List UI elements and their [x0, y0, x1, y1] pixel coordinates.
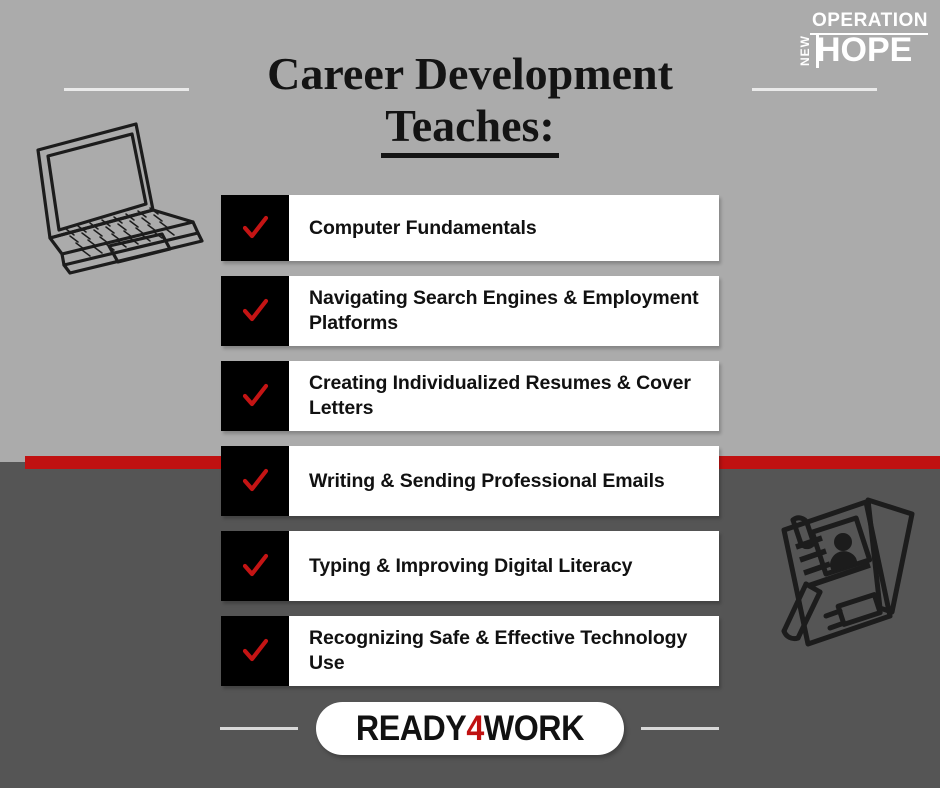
resume-document-icon [762, 492, 934, 657]
check-icon [240, 296, 270, 326]
check-icon [240, 636, 270, 666]
list-item[interactable]: Recognizing Safe & Effective Technology … [221, 616, 719, 686]
list-item[interactable]: Navigating Search Engines & Employment P… [221, 276, 719, 346]
logo-operation-text: OPERATION [812, 10, 928, 31]
list-item[interactable]: Computer Fundamentals [221, 195, 719, 261]
list-item[interactable]: Writing & Sending Professional Emails [221, 446, 719, 516]
decorative-rule-right-bottom [641, 727, 719, 730]
list-item-label: Computer Fundamentals [289, 195, 719, 261]
checkbox[interactable] [221, 276, 289, 346]
checkbox[interactable] [221, 531, 289, 601]
checkbox[interactable] [221, 616, 289, 686]
check-icon [240, 213, 270, 243]
list-item[interactable]: Creating Individualized Resumes & Cover … [221, 361, 719, 431]
checklist: Computer Fundamentals Navigating Search … [221, 195, 719, 701]
list-item-label: Typing & Improving Digital Literacy [289, 531, 719, 601]
check-icon [240, 551, 270, 581]
title-line-1: Career Development [0, 48, 940, 100]
checkbox[interactable] [221, 361, 289, 431]
decorative-rule-left-bottom [220, 727, 298, 730]
title-line-2: Teaches: [381, 100, 559, 158]
list-item-label: Navigating Search Engines & Employment P… [289, 276, 719, 346]
ready4work-text: READY4WORK [356, 709, 584, 749]
list-item-label: Writing & Sending Professional Emails [289, 446, 719, 516]
list-item-label: Recognizing Safe & Effective Technology … [289, 616, 719, 686]
check-icon [240, 466, 270, 496]
checkbox[interactable] [221, 195, 289, 261]
checkbox[interactable] [221, 446, 289, 516]
poster-canvas: OPERATION NEW HOPE Career Development Te… [0, 0, 940, 788]
list-item[interactable]: Typing & Improving Digital Literacy [221, 531, 719, 601]
brand-number: 4 [466, 709, 483, 748]
brand-part-2: WORK [484, 709, 584, 748]
ready4work-logo: READY4WORK [316, 702, 624, 755]
list-item-label: Creating Individualized Resumes & Cover … [289, 361, 719, 431]
laptop-icon [18, 112, 213, 287]
check-icon [240, 381, 270, 411]
brand-part-1: READY [356, 709, 466, 748]
